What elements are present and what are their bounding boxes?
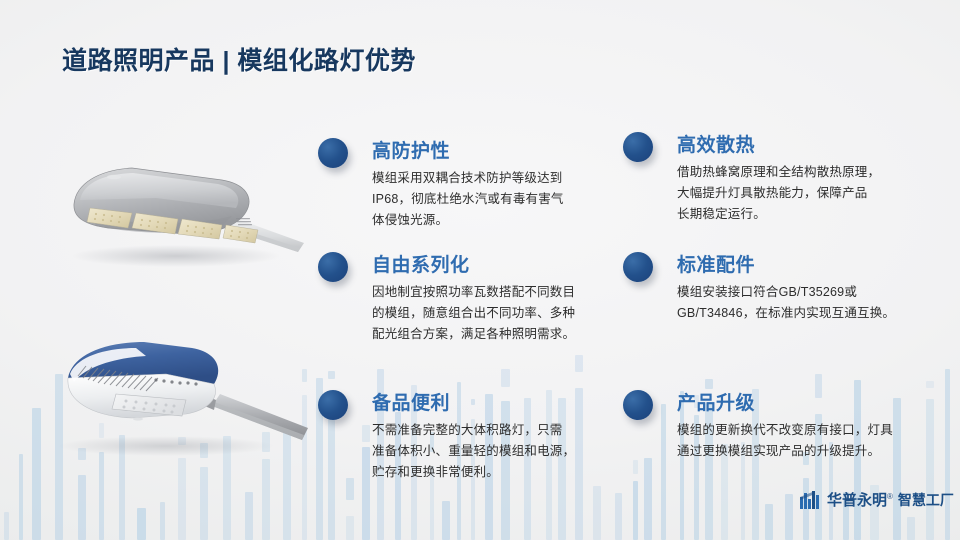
decorative-bar: [245, 492, 253, 540]
decorative-bar: [362, 447, 370, 540]
decorative-bar: [644, 458, 652, 540]
decorative-bar-segment: [501, 369, 510, 387]
decorative-bar: [907, 517, 915, 540]
feature-title: 标准配件: [677, 250, 755, 277]
led-street-lamp-grey-image: [36, 146, 312, 274]
decorative-bar: [575, 388, 583, 540]
brand-name: 华普永明®: [827, 493, 893, 508]
decorative-bar: [765, 504, 773, 540]
bullet-dot-icon: [623, 132, 657, 166]
bullet-dot-icon: [318, 252, 352, 286]
decorative-bar: [346, 516, 354, 540]
decorative-bar: [945, 369, 950, 540]
decorative-bar: [99, 452, 104, 540]
feature-body: 模组采用双耦合技术防护等级达到 IP68，彻底杜绝水汽或有毒有害气 体侵蚀光源。: [372, 168, 564, 231]
decorative-bar: [262, 459, 270, 540]
decorative-bar: [926, 399, 934, 540]
decorative-bar: [160, 502, 165, 540]
decorative-bar: [137, 508, 146, 540]
decorative-bar-segment: [346, 478, 354, 500]
bullet-dot-icon: [623, 252, 657, 286]
decorative-bar-segment: [926, 381, 934, 388]
feature-body: 模组的更新换代不改变原有接口，灯具 通过更换模组实现产品的升级提升。: [677, 420, 893, 462]
page-title: 道路照明产品 | 模组化路灯优势: [62, 41, 416, 77]
feature-body: 不需准备完整的大体积路灯，只需 准备体积小、重量轻的模组和电源， 贮存和更换非常…: [372, 420, 575, 483]
decorative-bar: [593, 486, 601, 540]
feature-title: 高防护性: [372, 136, 450, 163]
company-logo: 华普永明® 智慧工厂: [800, 491, 954, 509]
bullet-dot-icon: [623, 390, 657, 424]
feature-title: 自由系列化: [372, 250, 470, 277]
brand-sub-label: 智慧工厂: [898, 493, 954, 507]
feature-title: 高效散热: [677, 130, 755, 157]
brand-mark-icon: [800, 491, 822, 509]
decorative-bar: [178, 458, 186, 540]
decorative-bar-segment: [575, 355, 583, 372]
decorative-bar: [893, 398, 901, 540]
decorative-bar: [200, 467, 208, 540]
decorative-bar: [615, 493, 622, 540]
decorative-bar: [442, 501, 450, 540]
decorative-bar-segment: [362, 425, 370, 442]
led-street-lamp-blue-image: [16, 322, 312, 462]
decorative-bar-segment: [815, 374, 822, 398]
decorative-bar-segment: [471, 399, 475, 405]
decorative-bar: [4, 512, 9, 540]
decorative-bar: [78, 475, 86, 540]
feature-body: 模组安装接口符合GB/T35269或 GB/T34846，在标准内实现互通互换。: [677, 282, 895, 324]
feature-title: 产品升级: [677, 388, 755, 415]
decorative-bar: [785, 494, 793, 540]
decorative-bar-segment: [328, 371, 335, 379]
slide-root: 道路照明产品 | 模组化路灯优势: [0, 0, 960, 540]
bullet-dot-icon: [318, 390, 352, 424]
feature-body: 借助热蜂窝原理和全结构散热原理， 大幅提升灯具散热能力，保障产品 长期稳定运行。: [677, 162, 880, 225]
decorative-bar: [803, 478, 809, 540]
feature-body: 因地制宜按照功率瓦数搭配不同数目 的模组，随意组合出不同功率、多种 配光组合方案…: [372, 282, 575, 345]
decorative-bar: [633, 481, 638, 540]
decorative-bar: [19, 454, 23, 540]
decorative-bar-segment: [633, 460, 638, 474]
feature-title: 备品便利: [372, 388, 450, 415]
decorative-bar: [661, 404, 666, 540]
bullet-dot-icon: [318, 138, 352, 172]
